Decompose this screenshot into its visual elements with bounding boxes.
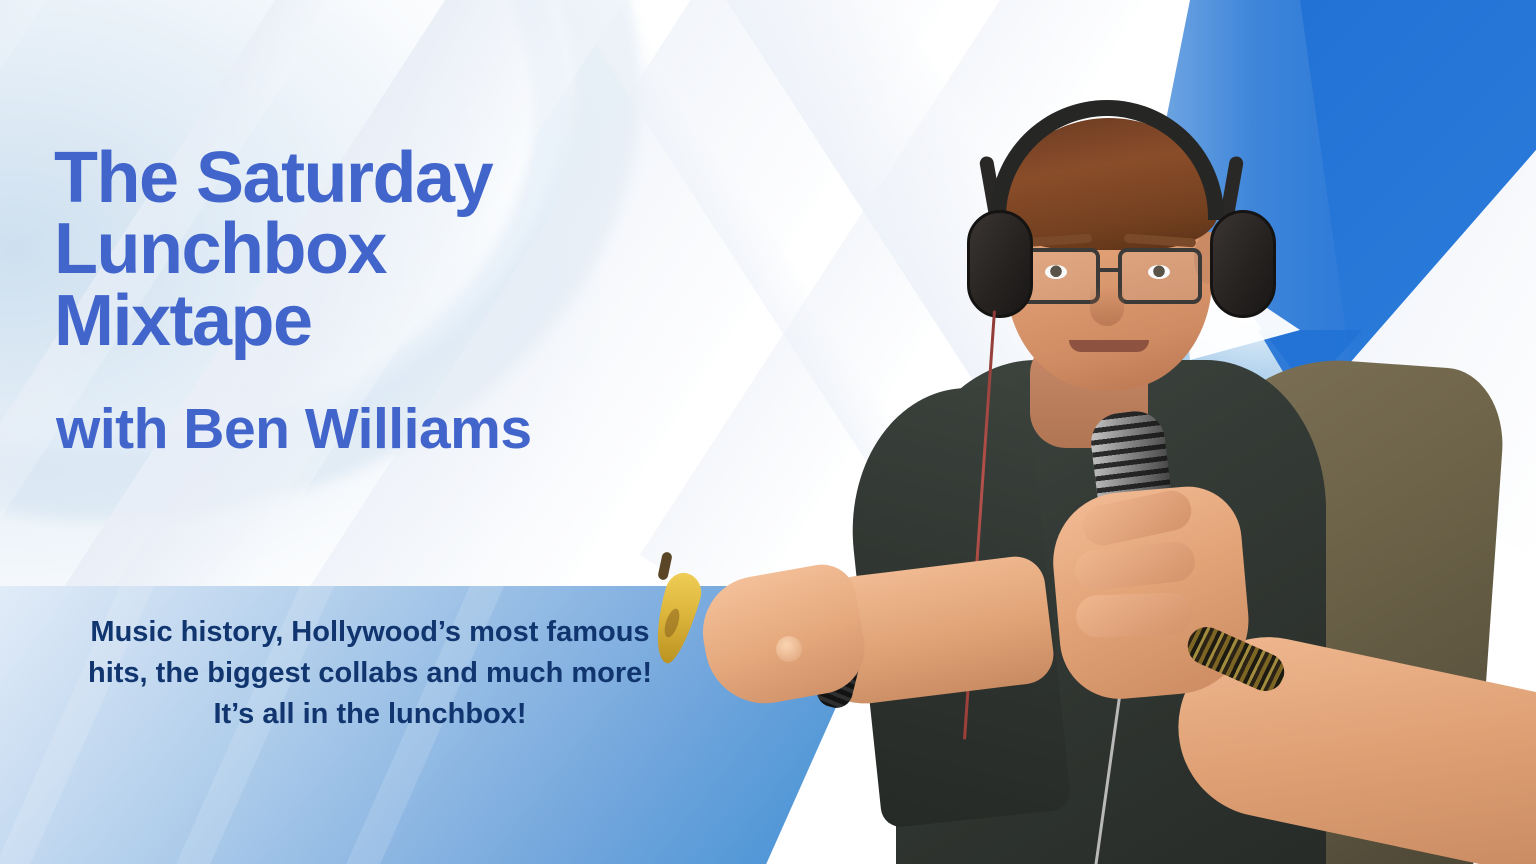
- show-title: The Saturday Lunchbox Mixtape: [54, 143, 734, 357]
- headphones-right-cup: [1210, 210, 1276, 318]
- glasses-right-lens: [1118, 248, 1202, 304]
- nose: [1090, 286, 1124, 326]
- headphones-left-cup: [967, 210, 1033, 318]
- podcast-promo-banner: The Saturday Lunchbox Mixtape with Ben W…: [0, 0, 1536, 864]
- show-tagline: Music history, Hollywood’s most famous h…: [10, 612, 730, 736]
- knuckle-highlight: [776, 636, 802, 662]
- host-credit: with Ben Williams: [56, 396, 532, 462]
- banana-stem: [657, 551, 673, 580]
- finger-3: [1075, 592, 1192, 638]
- glasses-bridge: [1098, 268, 1122, 272]
- mouth: [1069, 340, 1149, 352]
- host-photo: [690, 60, 1536, 864]
- headphones-headband: [990, 100, 1224, 220]
